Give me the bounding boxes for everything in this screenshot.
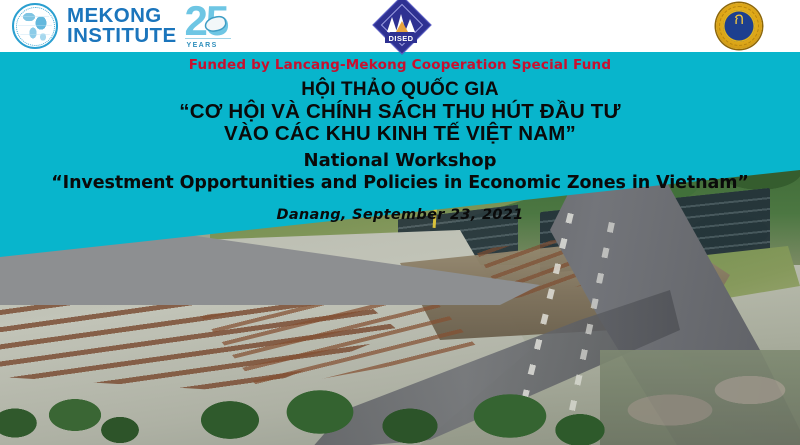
mekong-institute-logo: MEKONG INSTITUTE 25 YEARS (12, 2, 239, 50)
photo-tree-line-left (0, 375, 140, 445)
dised-logo: DISED (374, 3, 428, 49)
globe-ring (16, 7, 55, 46)
photo-tree-line-bottom (180, 360, 610, 445)
vietnamese-title-line-2: “CƠ HỘI VÀ CHÍNH SÁCH THU HÚT ĐẦU TƯ (0, 101, 800, 123)
photo-rubble-area (600, 350, 800, 445)
anniversary-25-years-icon: 25 YEARS (185, 2, 239, 50)
diamond-mountain-icon (387, 14, 415, 32)
english-subtitle: “Investment Opportunities and Policies i… (0, 173, 800, 194)
dised-label: DISED (385, 33, 417, 43)
english-heading: National Workshop (0, 150, 800, 171)
globe-icon (12, 3, 58, 49)
workshop-poster: Funded by Lancang-Mekong Cooperation Spe… (0, 0, 800, 445)
vietnamese-title-line-1: HỘI THẢO QUỐC GIA (0, 79, 800, 101)
place-and-date: Danang, September 23, 2021 (0, 207, 800, 223)
vietnamese-title: HỘI THẢO QUỐC GIA “CƠ HỘI VÀ CHÍNH SÁCH … (0, 79, 800, 145)
anniversary-label: YEARS (187, 42, 218, 49)
mekong-institute-line-2: INSTITUTE (67, 26, 177, 47)
mekong-institute-wordmark: MEKONG INSTITUTE (67, 6, 177, 47)
banner-text-block: Funded by Lancang-Mekong Cooperation Spe… (0, 52, 800, 252)
vietnamese-title-line-3: VÀO CÁC KHU KINH TẾ VIỆT NAM” (0, 123, 800, 145)
anniversary-divider (185, 38, 231, 40)
mountain-accent (396, 21, 408, 32)
mekong-institute-line-1: MEKONG (67, 6, 177, 27)
gold-seal-icon: ก (716, 3, 762, 49)
logo-bar: MEKONG INSTITUTE 25 YEARS DISED (0, 0, 800, 52)
funder-line: Funded by Lancang-Mekong Cooperation Spe… (0, 57, 800, 73)
seal-glyph: ก (716, 3, 762, 49)
